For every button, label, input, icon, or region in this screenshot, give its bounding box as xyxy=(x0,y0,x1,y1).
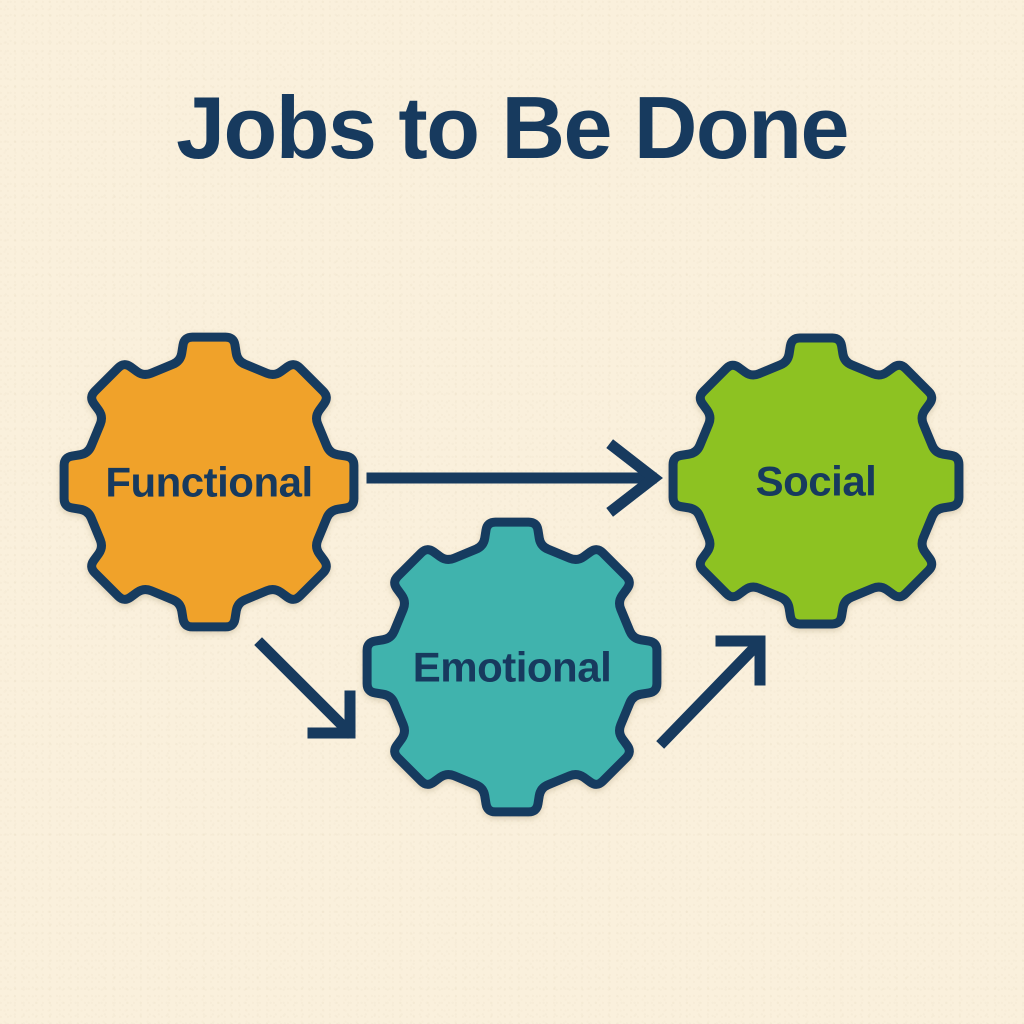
arrow-functional-to-emotional xyxy=(262,645,350,733)
arrow-emotional-to-social xyxy=(664,641,760,741)
gear-label-functional: Functional xyxy=(105,459,312,506)
gear-label-emotional: Emotional xyxy=(413,644,612,691)
diagram-canvas: Jobs to Be Done xyxy=(0,0,1024,1024)
arrow-functional-to-social xyxy=(372,447,654,509)
gear-layer xyxy=(64,337,959,812)
gear-diagram: FunctionalEmotionalSocial xyxy=(0,0,1024,1024)
gear-label-social: Social xyxy=(756,458,877,505)
